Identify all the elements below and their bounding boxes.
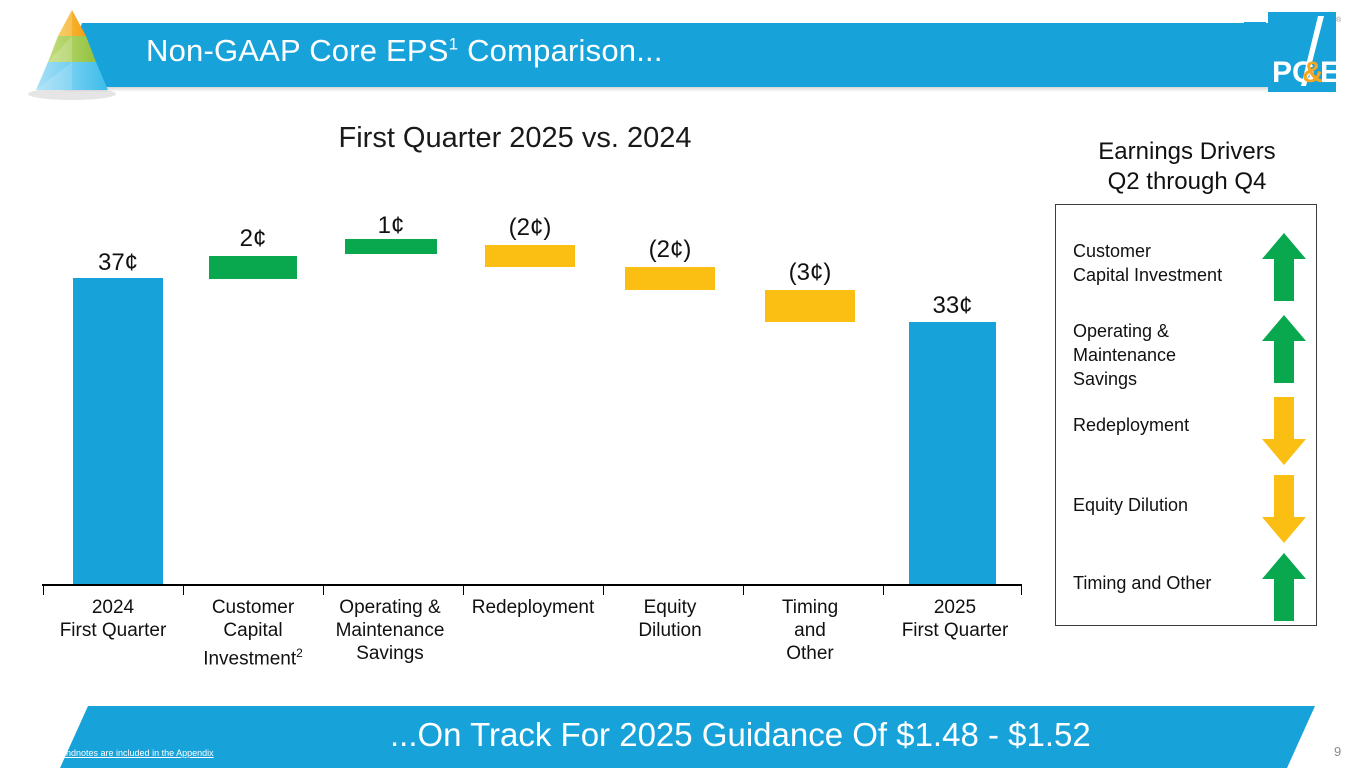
waterfall-chart: 37¢ 2¢ 1¢ (2¢) (2¢) (3¢) 33¢ 2024 Fi: [0, 0, 1030, 700]
earnings-drivers-title-line1: Earnings Drivers: [1056, 137, 1318, 167]
earnings-driver-row-timing-and-other: Timing and Other: [1056, 551, 1318, 627]
bar-customer-capital-investment: [209, 256, 297, 279]
axis-category-line: Maintenance: [320, 619, 460, 642]
axis-category-line: Capital: [183, 619, 323, 642]
axis-category-equity-dilution: Equity Dilution: [600, 596, 740, 642]
axis-category-line: Customer: [183, 596, 323, 619]
earnings-driver-label-line: Customer: [1073, 239, 1222, 263]
footnote-marker: 2: [296, 646, 303, 660]
axis-category-redeployment: Redeployment: [463, 596, 603, 619]
bar-label-om-savings: 1¢: [345, 212, 437, 240]
earnings-drivers-title-line2: Q2 through Q4: [1056, 167, 1318, 197]
earnings-driver-label: Timing and Other: [1073, 571, 1211, 595]
earnings-driver-label-line: Operating &: [1073, 319, 1176, 343]
earnings-driver-label: Customer Capital Investment: [1073, 239, 1222, 287]
chart-axis-line: [42, 584, 1022, 586]
axis-tick: [43, 586, 44, 595]
axis-category-line: Timing: [740, 596, 880, 619]
axis-category-line: Other: [740, 642, 880, 665]
axis-tick: [743, 586, 744, 595]
earnings-driver-label: Operating & Maintenance Savings: [1073, 319, 1176, 391]
axis-category-customer-capital-investment: Customer Capital Investment2: [183, 596, 323, 670]
page-number: 9: [1334, 744, 1341, 759]
axis-category-2025-first-quarter: 2025 First Quarter: [883, 596, 1027, 642]
earnings-drivers-title: Earnings Drivers Q2 through Q4: [1056, 137, 1318, 197]
arrow-up-icon: [1261, 551, 1307, 623]
axis-category-line: 2024: [43, 596, 183, 619]
earnings-driver-row-equity-dilution: Equity Dilution: [1056, 473, 1318, 551]
bar-om-savings: [345, 239, 437, 254]
logo-accent-strip: [1244, 22, 1266, 78]
earnings-drivers-panel: Customer Capital Investment Operating & …: [1055, 204, 1317, 626]
earnings-driver-row-customer-capital-investment: Customer Capital Investment: [1056, 231, 1318, 311]
bar-equity-dilution: [625, 267, 715, 290]
bar-label-equity-dilution: (2¢): [625, 236, 715, 264]
arrow-up-icon: [1261, 231, 1307, 303]
bar-redeployment: [485, 245, 575, 267]
bar-2024-first-quarter: [73, 278, 163, 585]
earnings-driver-row-redeployment: Redeployment: [1056, 395, 1318, 473]
axis-category-line: Savings: [320, 642, 460, 665]
bar-label-timing-and-other: (3¢): [765, 259, 855, 287]
earnings-driver-label-line: Capital Investment: [1073, 263, 1222, 287]
earnings-driver-row-om-savings: Operating & Maintenance Savings: [1056, 311, 1318, 395]
bar-label-customer-capital-investment: 2¢: [209, 225, 297, 253]
axis-category-line: and: [740, 619, 880, 642]
earnings-driver-label-line: Maintenance: [1073, 343, 1176, 367]
arrow-down-icon: [1261, 395, 1307, 467]
axis-tick: [883, 586, 884, 595]
bar-label-2025-first-quarter: 33¢: [909, 292, 996, 320]
axis-category-line: 2025: [883, 596, 1027, 619]
earnings-driver-label: Redeployment: [1073, 413, 1189, 437]
earnings-driver-label: Equity Dilution: [1073, 493, 1188, 517]
axis-tick: [1021, 586, 1022, 595]
axis-category-line: Equity: [600, 596, 740, 619]
axis-category-line: Investment2: [183, 642, 323, 670]
axis-tick: [463, 586, 464, 595]
axis-tick: [603, 586, 604, 595]
footer-tagline: ...On Track For 2025 Guidance Of $1.48 -…: [390, 716, 1091, 754]
pge-logo: PG & E ®: [1266, 8, 1342, 96]
axis-category-line: First Quarter: [883, 619, 1027, 642]
slide: Non-GAAP Core EPS1 Comparison... PG & E …: [0, 0, 1365, 768]
axis-category-line: First Quarter: [43, 619, 183, 642]
bar-label-2024-first-quarter: 37¢: [73, 249, 163, 277]
earnings-driver-label-line: Timing and Other: [1073, 571, 1211, 595]
svg-text:E: E: [1320, 56, 1340, 89]
bar-timing-and-other: [765, 290, 855, 322]
earnings-driver-label-line: Redeployment: [1073, 413, 1189, 437]
arrow-down-icon: [1261, 473, 1307, 545]
arrow-up-icon: [1261, 313, 1307, 385]
axis-category-om-savings: Operating & Maintenance Savings: [320, 596, 460, 665]
axis-category-2024-first-quarter: 2024 First Quarter: [43, 596, 183, 642]
endnote-link[interactable]: Endnotes are included in the Appendix: [60, 748, 214, 758]
axis-category-timing-and-other: Timing and Other: [740, 596, 880, 665]
axis-category-line: Redeployment: [463, 596, 603, 619]
svg-text:®: ®: [1336, 16, 1342, 24]
bar-label-redeployment: (2¢): [485, 214, 575, 242]
bar-2025-first-quarter: [909, 322, 996, 585]
earnings-driver-label-line: Equity Dilution: [1073, 493, 1188, 517]
axis-tick: [183, 586, 184, 595]
axis-category-line: Operating &: [320, 596, 460, 619]
axis-category-line: Dilution: [600, 619, 740, 642]
axis-tick: [323, 586, 324, 595]
earnings-driver-label-line: Savings: [1073, 367, 1176, 391]
